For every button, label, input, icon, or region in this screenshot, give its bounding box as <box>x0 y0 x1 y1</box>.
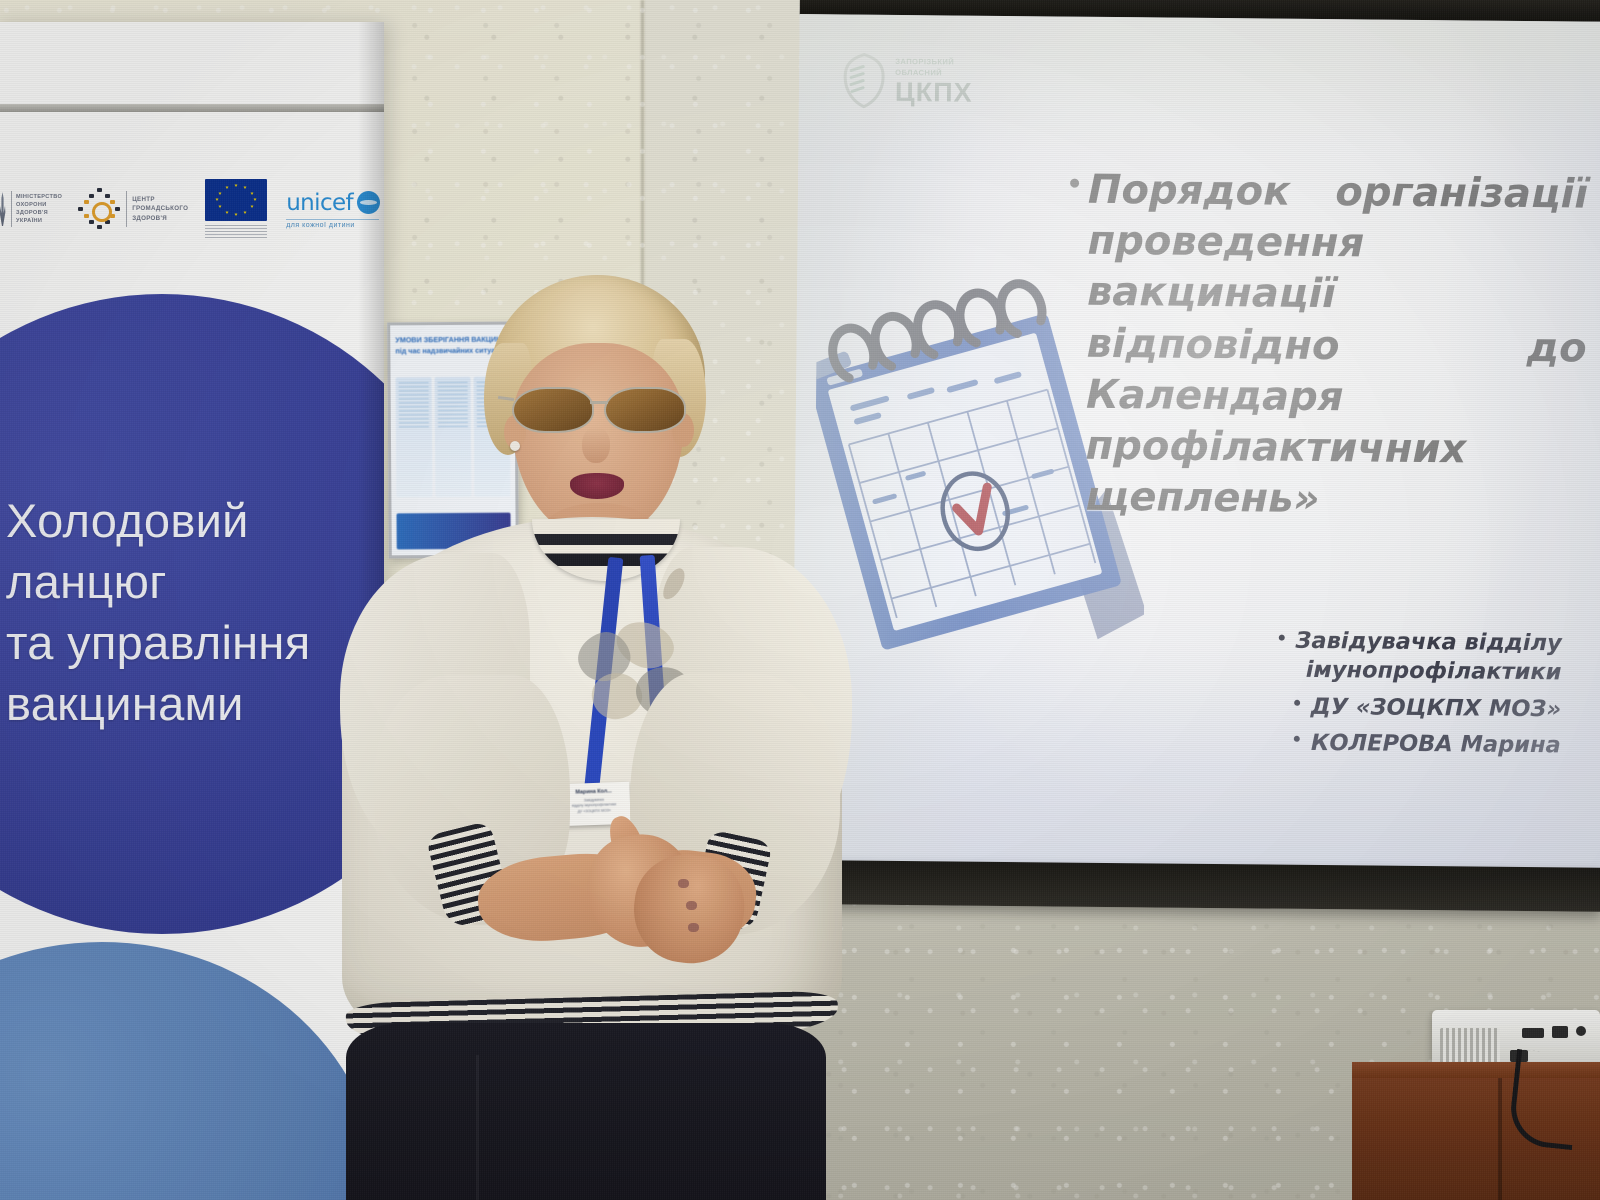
list-item: Завідувачка відділу імунопрофілактики <box>1223 626 1564 688</box>
banner-top-rail <box>0 104 384 112</box>
bullet-marker <box>1294 736 1300 742</box>
divider <box>11 191 12 227</box>
tryzub-icon <box>0 192 7 226</box>
screen-surface: ЗАПОРІЗЬКИЙ ОБЛАСНИЙ ЦКПХ <box>792 14 1600 870</box>
presenter: Марина Кол... Завідувачка відділу імуноп… <box>300 255 860 1200</box>
phc-logo-text: ЦЕНТР ГРОМАДСЬКОГО ЗДОРОВ'Я <box>132 195 188 223</box>
bullet-marker <box>1070 179 1079 188</box>
eu-caption-lines <box>205 224 267 240</box>
nose <box>582 427 610 463</box>
cabinet-edge <box>1498 1078 1502 1200</box>
public-health-center-logo: ЦЕНТР ГРОМАДСЬКОГО ЗДОРОВ'Я <box>77 187 188 231</box>
slide-logo-subtitle: ЗАПОРІЗЬКИЙ ОБЛАСНИЙ <box>895 56 973 80</box>
european-union-logo <box>205 179 267 240</box>
slide-logo-wordmark: ЦКПХ <box>895 79 973 107</box>
sub-bullet-text: Завідувачка відділу імунопрофілактики <box>1295 628 1562 686</box>
projector-port <box>1522 1028 1544 1038</box>
list-item: КОЛЕРОВА Марина <box>1223 728 1563 761</box>
ministry-logo-text: МІНІСТЕРСТВО ОХОРОНИ ЗДОРОВ'Я УКРАЇНИ <box>16 193 62 225</box>
trouser-seam <box>476 1055 479 1200</box>
lens-right <box>604 387 686 433</box>
unicef-wordmark: unicef <box>286 190 353 216</box>
divider <box>126 191 127 227</box>
phc-mark-icon <box>77 187 121 231</box>
slide-main-line-2: вакцинації відповідно до Календаря <box>1086 267 1587 425</box>
slide-main-bullet: Порядок організації проведення вакцинаці… <box>1085 165 1588 528</box>
projection-screen: ЗАПОРІЗЬКИЙ ОБЛАСНИЙ ЦКПХ <box>791 0 1600 912</box>
eu-flag-icon <box>205 179 267 221</box>
projector-port <box>1552 1026 1568 1038</box>
list-item: ДУ «ЗОЦКПХ МОЗ» <box>1223 692 1563 725</box>
slide-logo: ЗАПОРІЗЬКИЙ ОБЛАСНИЙ ЦКПХ <box>841 52 973 109</box>
slide-sub-bullets: Завідувачка відділу імунопрофілактики ДУ… <box>1223 626 1564 767</box>
banner-logo-strip: МІНІСТЕРСТВО ОХОРОНИ ЗДОРОВ'Я УКРАЇНИ ЦЕ… <box>0 150 378 268</box>
fingernail <box>688 923 699 932</box>
bullet-marker <box>1294 700 1300 706</box>
fingernail <box>678 879 689 888</box>
screen-bottom-bar <box>791 860 1600 912</box>
photo-scene: МІНІСТЕРСТВО ОХОРОНИ ЗДОРОВ'Я УКРАЇНИ ЦЕ… <box>0 0 1600 1200</box>
fingernail <box>686 901 697 910</box>
projector-vent <box>1440 1028 1500 1064</box>
trousers <box>346 1023 826 1200</box>
phc-ring <box>92 202 112 222</box>
slide-main-line-1: Порядок організації проведення <box>1087 165 1588 272</box>
slide-main-line-3: профілактичних щеплень» <box>1085 421 1586 528</box>
projector-port <box>1576 1026 1586 1036</box>
glasses-bridge <box>590 401 608 404</box>
earring <box>510 441 520 451</box>
lens-left <box>512 387 594 433</box>
sub-bullet-text: ДУ «ЗОЦКПХ МОЗ» <box>1311 693 1562 721</box>
bullet-marker <box>1278 634 1284 640</box>
ministry-of-health-logo: МІНІСТЕРСТВО ОХОРОНИ ЗДОРОВ'Я УКРАЇНИ <box>0 191 62 227</box>
shield-icon <box>841 52 888 108</box>
tinted-glasses <box>506 387 696 431</box>
sub-bullet-text: КОЛЕРОВА Марина <box>1311 730 1561 758</box>
